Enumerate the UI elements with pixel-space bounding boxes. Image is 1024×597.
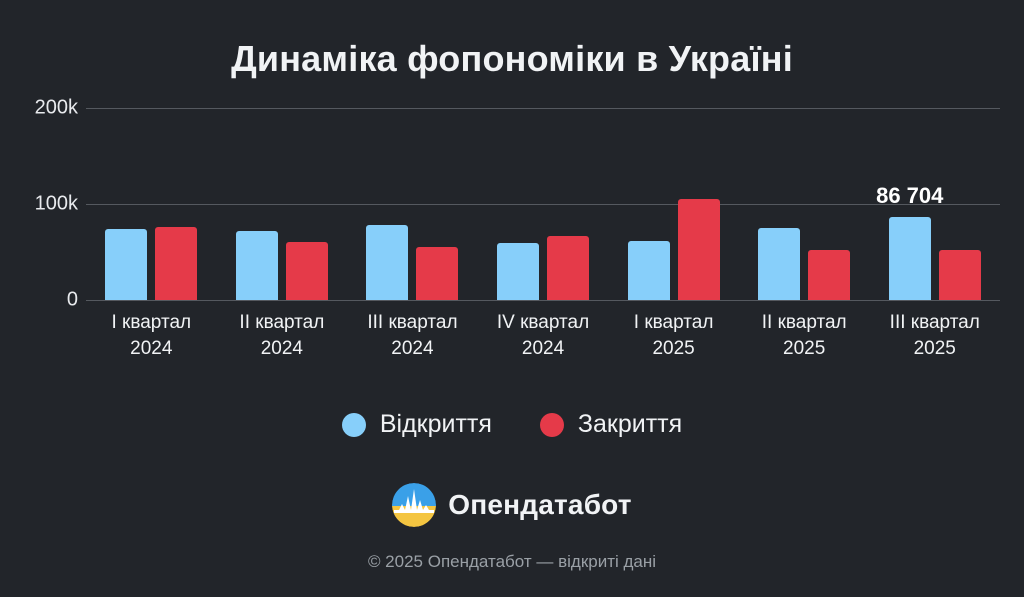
brand-name: Опендатабот [448,489,631,521]
footer-copyright: © 2025 Опендатабот — відкриті дані [0,552,1024,572]
infographic-canvas: Динаміка фопономіки в Україні 0100k200k … [0,0,1024,597]
x-cat-quarter: III квартал [367,312,457,333]
bar-open[interactable] [497,243,539,300]
axis-baseline [86,300,1000,301]
bar-value-label: 86 704 [876,183,943,209]
circle-icon [540,413,564,437]
chart-plot-area: 0100k200k 86 704 [0,108,1024,308]
x-cat-quarter: II квартал [762,312,847,333]
x-cat-quarter: I квартал [634,312,714,333]
bar-close[interactable] [547,236,589,300]
x-cat-quarter: IV квартал [497,312,589,333]
x-cat-year: 2025 [739,336,870,362]
bar-close[interactable] [678,199,720,300]
bars-container: 86 704 [86,108,1000,300]
bar-close[interactable] [286,242,328,300]
x-axis-category-label: III квартал2025 [869,310,1000,362]
bar-group [608,108,739,300]
page-title: Динаміка фопономіки в Україні [0,38,1024,80]
x-axis-category-label: II квартал2024 [217,310,348,362]
legend-item-close[interactable]: Закриття [540,410,682,439]
x-axis-category-label: III квартал2024 [347,310,478,362]
x-cat-year: 2024 [217,336,348,362]
x-cat-year: 2024 [86,336,217,362]
y-tick-label: 200k [35,97,78,120]
bar-group [86,108,217,300]
x-cat-quarter: I квартал [111,312,191,333]
bar-open[interactable] [366,225,408,300]
chart-legend: ВідкриттяЗакриття [0,410,1024,439]
bar-group [739,108,870,300]
x-cat-year: 2025 [608,336,739,362]
x-axis-category-label: I квартал2025 [608,310,739,362]
y-axis: 0100k200k [0,108,86,308]
brand-block: Опендатабот [0,483,1024,527]
x-cat-quarter: III квартал [890,312,980,333]
bar-open[interactable]: 86 704 [889,217,931,300]
x-axis-category-label: IV квартал2024 [478,310,609,362]
x-cat-year: 2025 [869,336,1000,362]
x-axis-category-label: II квартал2025 [739,310,870,362]
legend-label: Відкриття [380,410,492,439]
bar-close[interactable] [939,250,981,300]
x-cat-quarter: II квартал [239,312,324,333]
bar-group: 86 704 [869,108,1000,300]
bar-close[interactable] [416,247,458,300]
legend-label: Закриття [578,410,682,439]
y-tick-label: 0 [67,289,78,312]
y-tick-label: 100k [35,193,78,216]
x-axis-category-label: I квартал2024 [86,310,217,362]
bar-open[interactable] [105,229,147,300]
bar-open[interactable] [758,228,800,300]
bar-group [347,108,478,300]
bar-open[interactable] [236,231,278,300]
bar-group [478,108,609,300]
bar-close[interactable] [808,250,850,300]
x-cat-year: 2024 [478,336,609,362]
x-axis: I квартал2024II квартал2024III квартал20… [86,310,1000,362]
bar-group [217,108,348,300]
opendatabot-logo-icon [392,483,436,527]
bar-close[interactable] [155,227,197,300]
bar-open[interactable] [628,241,670,300]
circle-icon [342,413,366,437]
legend-item-open[interactable]: Відкриття [342,410,492,439]
x-cat-year: 2024 [347,336,478,362]
